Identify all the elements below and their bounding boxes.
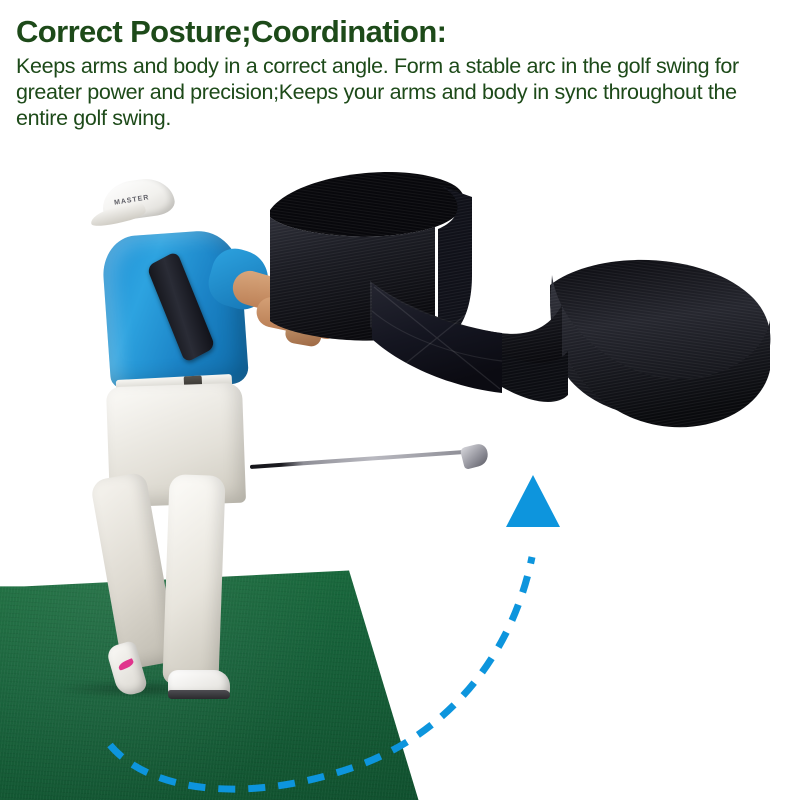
page-title: Correct Posture;Coordination:: [16, 14, 786, 50]
product-infographic: Correct Posture;Coordination: Keeps arms…: [0, 0, 800, 800]
swing-arc-annotation: [0, 145, 800, 800]
up-arrow-icon: [506, 475, 560, 527]
product-scene: MASTER: [0, 145, 800, 800]
text-block: Correct Posture;Coordination: Keeps arms…: [16, 14, 786, 131]
description-text: Keeps arms and body in a correct angle. …: [16, 53, 772, 131]
dashed-swing-arc: [110, 557, 532, 789]
